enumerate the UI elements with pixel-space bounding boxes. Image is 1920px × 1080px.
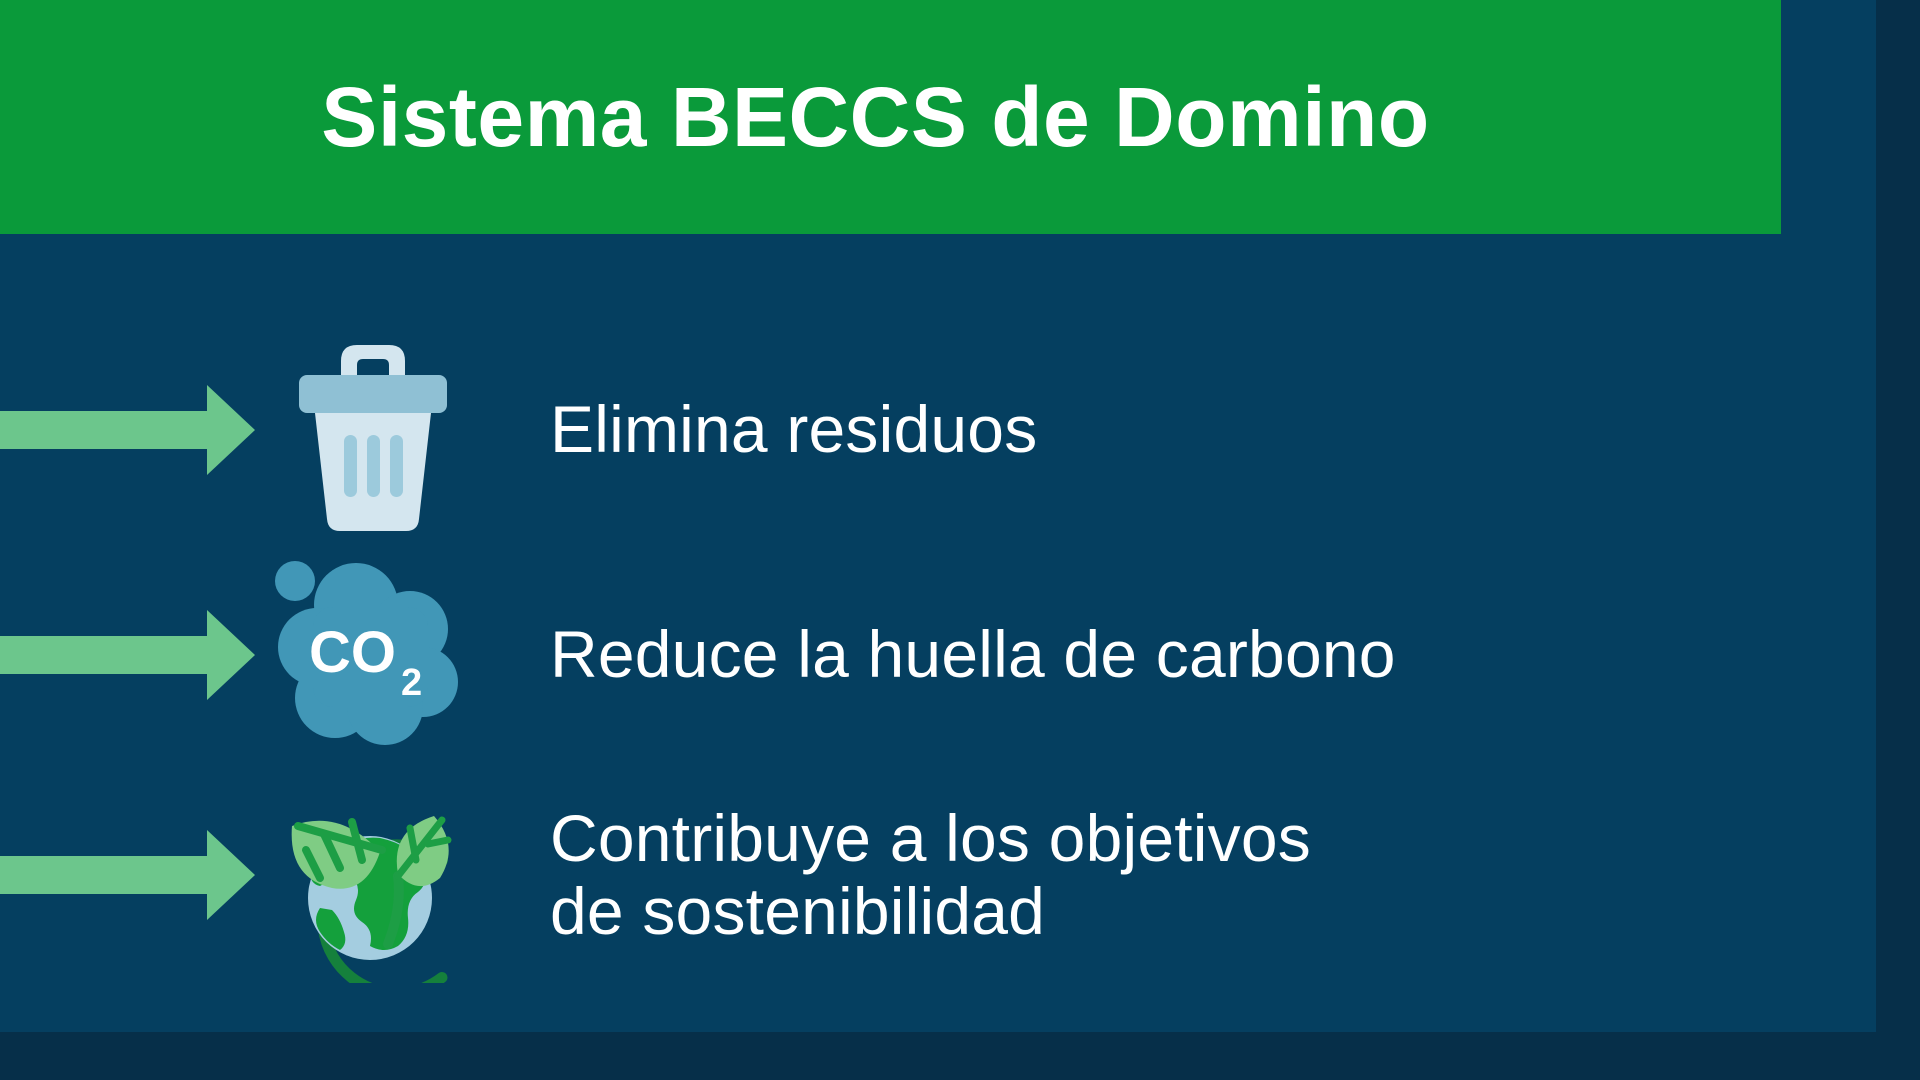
benefit-row-waste: Elimina residuos xyxy=(0,315,1037,545)
earth-leaves-icon xyxy=(265,768,480,983)
page-title: Sistema BECCS de Domino xyxy=(321,75,1429,159)
benefit-row-sustainability: Contribuye a los objetivos de sostenibil… xyxy=(0,760,1311,990)
arrow-right-icon xyxy=(0,385,255,475)
header-band: Sistema BECCS de Domino xyxy=(0,0,1781,234)
benefit-label: Contribuye a los objetivos de sostenibil… xyxy=(550,802,1311,947)
bottom-edge-strip xyxy=(0,1032,1920,1080)
svg-text:2: 2 xyxy=(401,662,422,704)
benefit-label: Reduce la huella de carbono xyxy=(550,618,1396,692)
benefit-label: Elimina residuos xyxy=(550,393,1037,467)
slide-canvas: Sistema BECCS de Domino Elimina resi xyxy=(0,0,1920,1080)
trash-can-icon xyxy=(265,323,480,538)
svg-text:CO: CO xyxy=(309,620,396,685)
co2-cloud-icon: CO 2 xyxy=(265,548,480,763)
arrow-right-icon xyxy=(0,610,255,700)
benefit-row-carbon: CO 2 Reduce la huella de carbono xyxy=(0,540,1396,770)
right-edge-strip xyxy=(1876,0,1920,1080)
arrow-right-icon xyxy=(0,830,255,920)
